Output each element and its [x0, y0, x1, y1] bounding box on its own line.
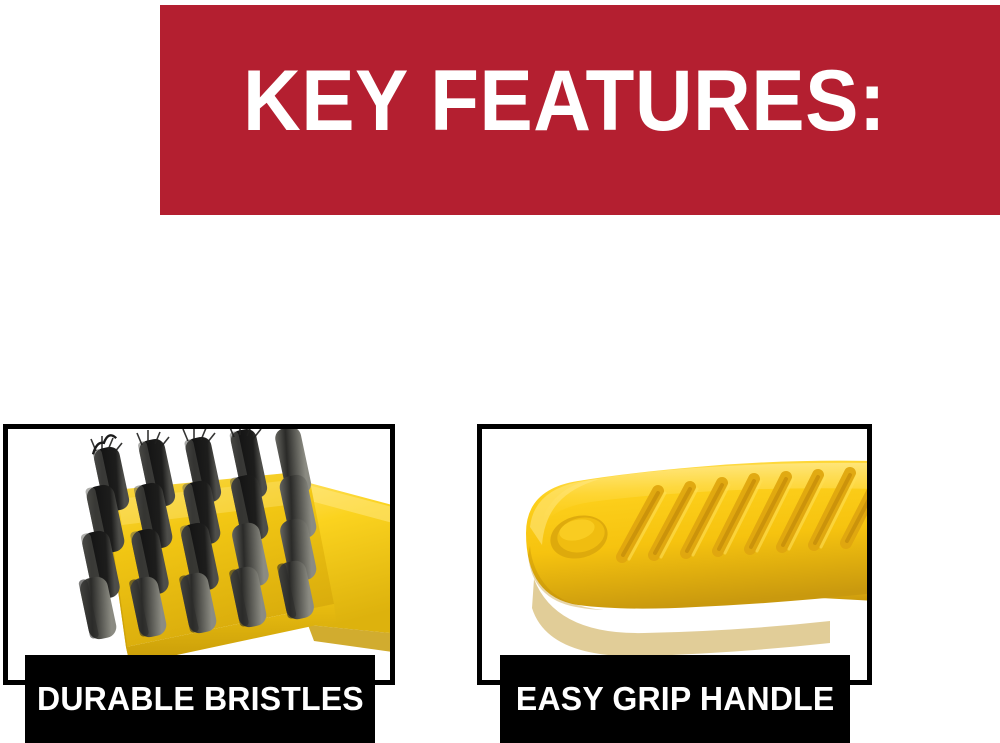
grip-handle-illustration: [482, 429, 867, 680]
feature-photo-frame-bristles: [3, 424, 395, 685]
feature-caption-text: EASY GRIP HANDLE: [516, 682, 835, 716]
feature-caption-handle: EASY GRIP HANDLE: [500, 655, 850, 743]
key-features-banner: KEY FEATURES:: [160, 5, 1000, 215]
feature-photo-handle: [482, 429, 867, 680]
feature-caption-text: DURABLE BRISTLES: [37, 682, 364, 716]
feature-card-durable-bristles: DURABLE BRISTLES: [3, 424, 395, 743]
feature-photo-bristles: [8, 429, 390, 680]
feature-caption-bristles: DURABLE BRISTLES: [25, 655, 375, 743]
feature-card-easy-grip-handle: EASY GRIP HANDLE: [477, 424, 872, 743]
brush-head-graphic: [8, 429, 390, 680]
feature-photo-frame-handle: [477, 424, 872, 685]
page-title: KEY FEATURES:: [243, 55, 886, 147]
brush-head-illustration: [8, 429, 390, 680]
grip-handle-graphic: [482, 429, 867, 680]
